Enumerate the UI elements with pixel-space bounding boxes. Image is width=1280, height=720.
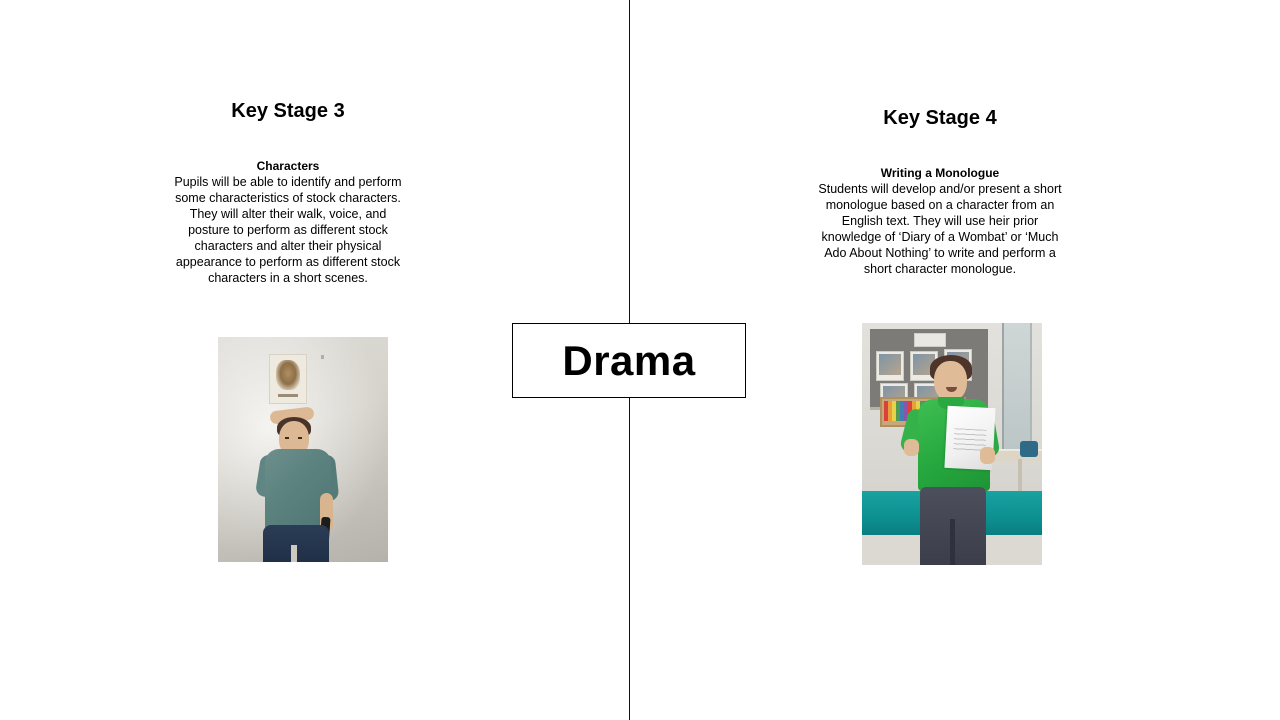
key-stage-4-column: Key Stage 4 Writing a Monologue Students… — [802, 107, 1078, 277]
student-right-hand — [980, 447, 995, 464]
subject-title-box: Drama — [512, 323, 746, 398]
display-photo-image — [879, 354, 901, 375]
framed-picture — [269, 354, 307, 404]
student-leg-gap — [950, 519, 955, 565]
framed-picture-art — [276, 360, 300, 390]
classroom-door — [1002, 323, 1032, 451]
pupil-right-eye — [298, 437, 302, 439]
student-left-hand — [904, 439, 919, 456]
key-stage-4-topic-title: Writing a Monologue — [802, 165, 1078, 181]
display-photo — [876, 351, 904, 381]
student-head — [934, 361, 967, 401]
pupil-left-eye — [285, 437, 289, 439]
key-stage-4-photo — [862, 323, 1042, 565]
key-stage-4-heading: Key Stage 4 — [802, 107, 1078, 129]
wall-mark — [321, 355, 324, 359]
key-stage-3-heading: Key Stage 3 — [150, 100, 426, 122]
pupil-leg-gap — [291, 545, 297, 562]
classroom-desk-leg — [1018, 459, 1022, 491]
key-stage-4-topic-body: Students will develop and/or present a s… — [815, 181, 1065, 277]
key-stage-3-topic-title: Characters — [150, 158, 426, 174]
framed-picture-caption — [278, 394, 298, 397]
key-stage-3-photo — [218, 337, 388, 562]
subject-title-label: Drama — [562, 340, 695, 382]
key-stage-3-topic-body: Pupils will be able to identify and perf… — [168, 174, 408, 286]
display-board-title-card — [914, 333, 946, 347]
classroom-chair — [1020, 441, 1038, 457]
key-stage-3-column: Key Stage 3 Characters Pupils will be ab… — [150, 100, 426, 286]
